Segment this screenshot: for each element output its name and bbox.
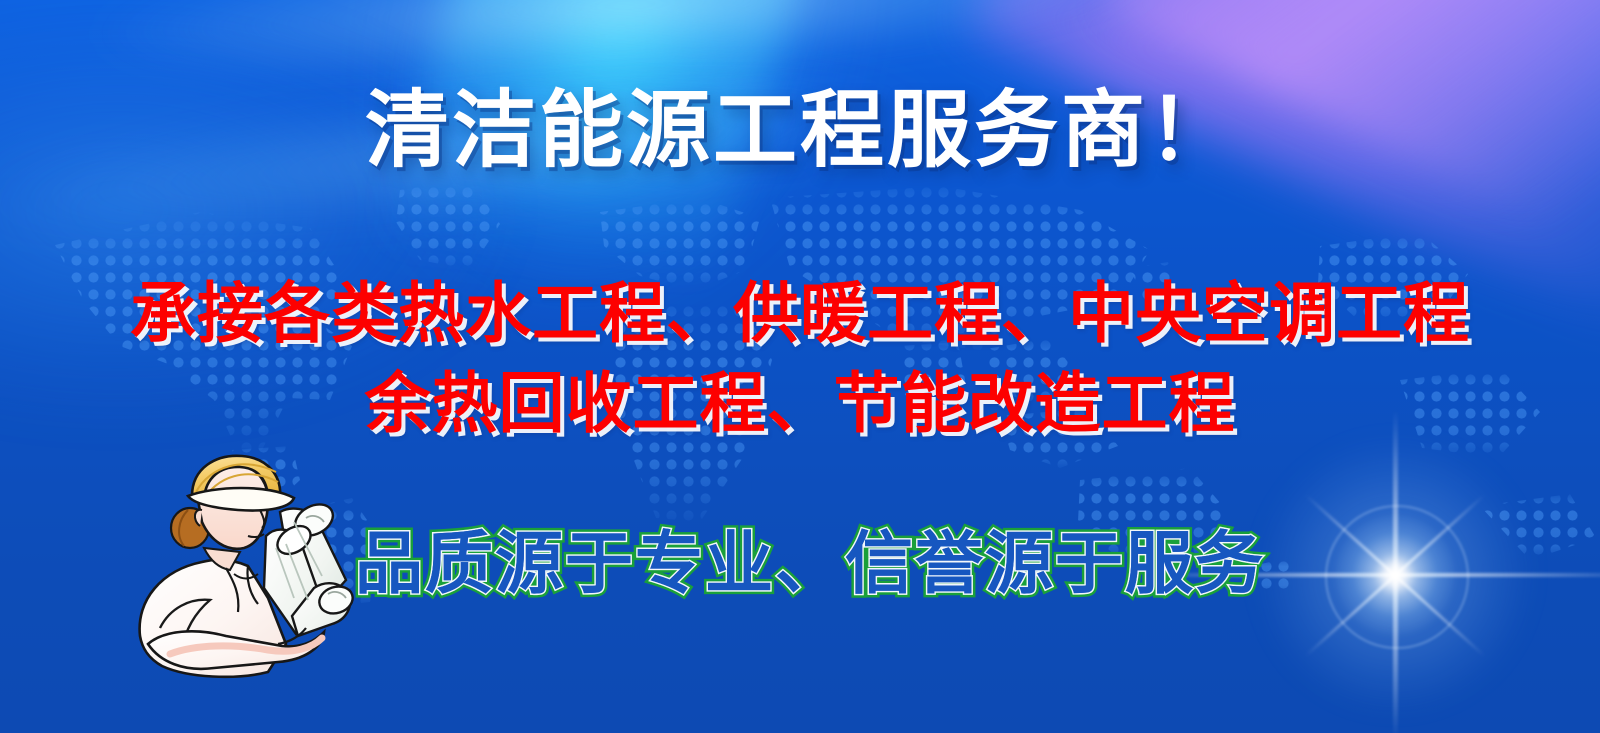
service-line-2: 余热回收工程、节能改造工程 [0,371,1600,437]
promotional-banner: 清洁能源工程服务商！ 承接各类热水工程、供暖工程、中央空调工程 余热回收工程、节… [0,0,1600,733]
flare-core [1335,515,1455,635]
service-line-1: 承接各类热水工程、供暖工程、中央空调工程 [0,281,1600,347]
page-title: 清洁能源工程服务商！ [0,88,1600,172]
slogan-text: 品质源于专业、信誉源于服务 [355,531,1265,599]
